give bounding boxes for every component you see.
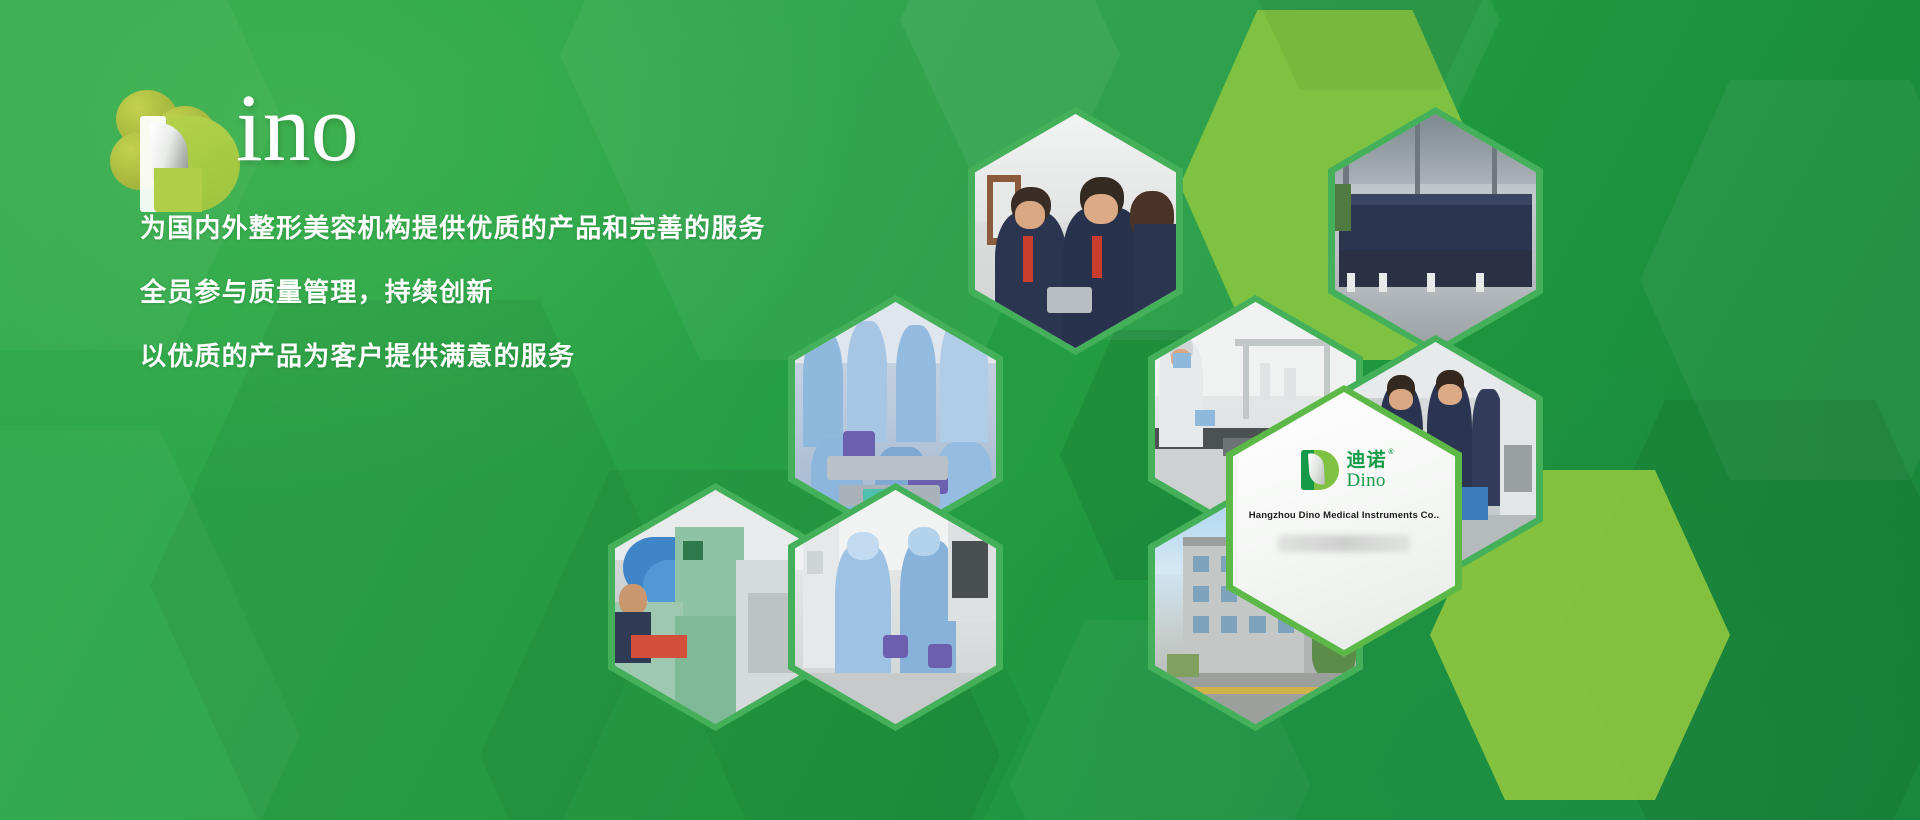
honeycomb-cell-cleanroom-packaging	[788, 483, 1003, 731]
slogan-line-1: 为国内外整形美容机构提供优质的产品和完善的服务	[140, 208, 900, 245]
dino-leaf-d-mark-icon	[1301, 450, 1339, 490]
dino-leaf-d-mark-icon	[108, 90, 228, 188]
center-logo-company-name: Hangzhou Dino Medical Instruments Co..	[1249, 510, 1439, 521]
brand-wordmark: ino	[236, 80, 359, 176]
center-logo-lockup: 迪诺® Dino	[1301, 450, 1386, 490]
honeycomb-cell-group-staff-photo	[1328, 107, 1543, 355]
hero-banner: ino 为国内外整形美容机构提供优质的产品和完善的服务 全员参与质量管理，持续创…	[0, 0, 1920, 820]
registered-mark-icon: ®	[1388, 449, 1394, 456]
slogan-line-3: 以优质的产品为客户提供满意的服务	[140, 336, 900, 373]
slogan-block: 为国内外整形美容机构提供优质的产品和完善的服务 全员参与质量管理，持续创新 以优…	[140, 208, 900, 400]
letter-d-shape	[140, 116, 240, 212]
blurred-subtext	[1278, 535, 1410, 552]
center-logo-cn-name: 迪诺®	[1346, 451, 1386, 470]
slogan-line-2: 全员参与质量管理，持续创新	[140, 272, 900, 309]
center-logo-en-name: Dino	[1346, 471, 1386, 490]
honeycomb-cell-engineers-inspecting-part	[968, 107, 1183, 355]
brand-logo: ino	[108, 72, 528, 182]
